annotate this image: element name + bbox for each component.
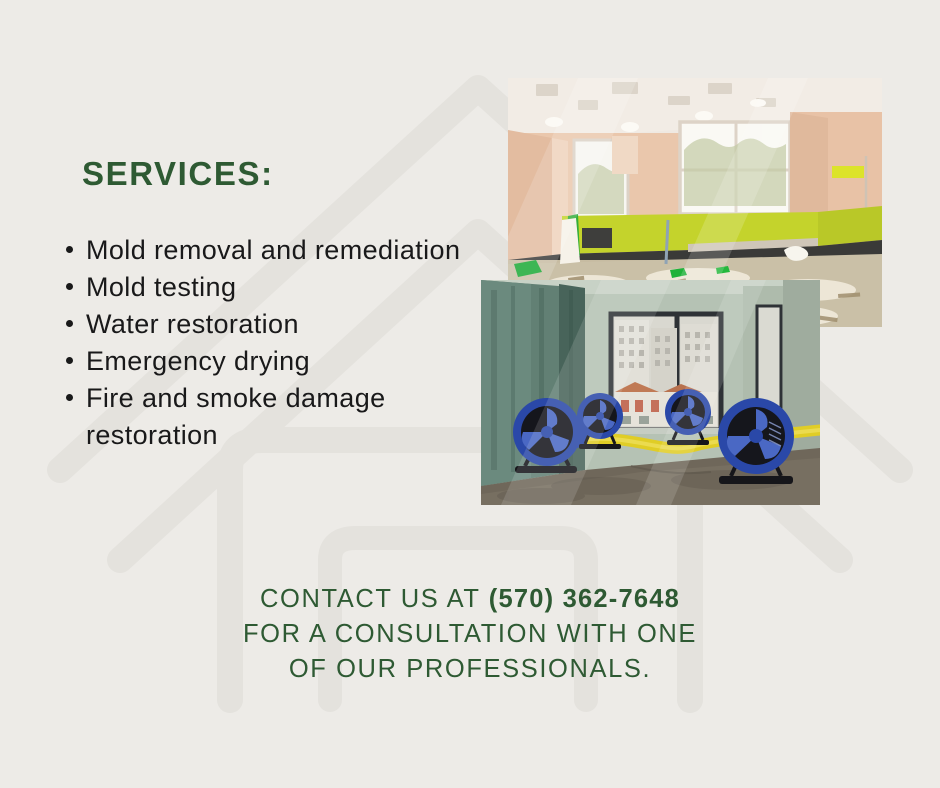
bullet-icon bbox=[66, 283, 73, 290]
list-item: Mold removal and remediation bbox=[62, 232, 462, 269]
bullet-icon bbox=[66, 394, 73, 401]
list-item: Emergency drying bbox=[62, 343, 462, 380]
list-item: Water restoration bbox=[62, 306, 462, 343]
contact-line-3: OF OUR PROFESSIONALS. bbox=[0, 652, 940, 687]
list-item: Fire and smoke damage restoration bbox=[62, 380, 462, 454]
contact-prefix: CONTACT US AT bbox=[260, 585, 489, 613]
list-item-label: Emergency drying bbox=[86, 346, 310, 376]
photo-drying-fans-room bbox=[481, 280, 820, 505]
flyer-canvas: SERVICES: Mold removal and remediation M… bbox=[0, 0, 940, 788]
bullet-icon bbox=[66, 320, 73, 327]
services-list: Mold removal and remediation Mold testin… bbox=[62, 232, 462, 454]
page-title: SERVICES: bbox=[82, 155, 274, 193]
contact-block: CONTACT US AT (570) 362-7648 FOR A CONSU… bbox=[0, 582, 940, 687]
contact-line-2: FOR A CONSULTATION WITH ONE bbox=[0, 617, 940, 652]
list-item-label: Mold removal and remediation bbox=[86, 235, 460, 265]
phone-number[interactable]: (570) 362-7648 bbox=[489, 585, 680, 613]
list-item: Mold testing bbox=[62, 269, 462, 306]
bullet-icon bbox=[66, 246, 73, 253]
list-item-label: Water restoration bbox=[86, 309, 299, 339]
list-item-label: Fire and smoke damage restoration bbox=[86, 383, 386, 450]
bullet-icon bbox=[66, 357, 73, 364]
list-item-label: Mold testing bbox=[86, 272, 236, 302]
contact-line-1: CONTACT US AT (570) 362-7648 bbox=[0, 582, 940, 617]
